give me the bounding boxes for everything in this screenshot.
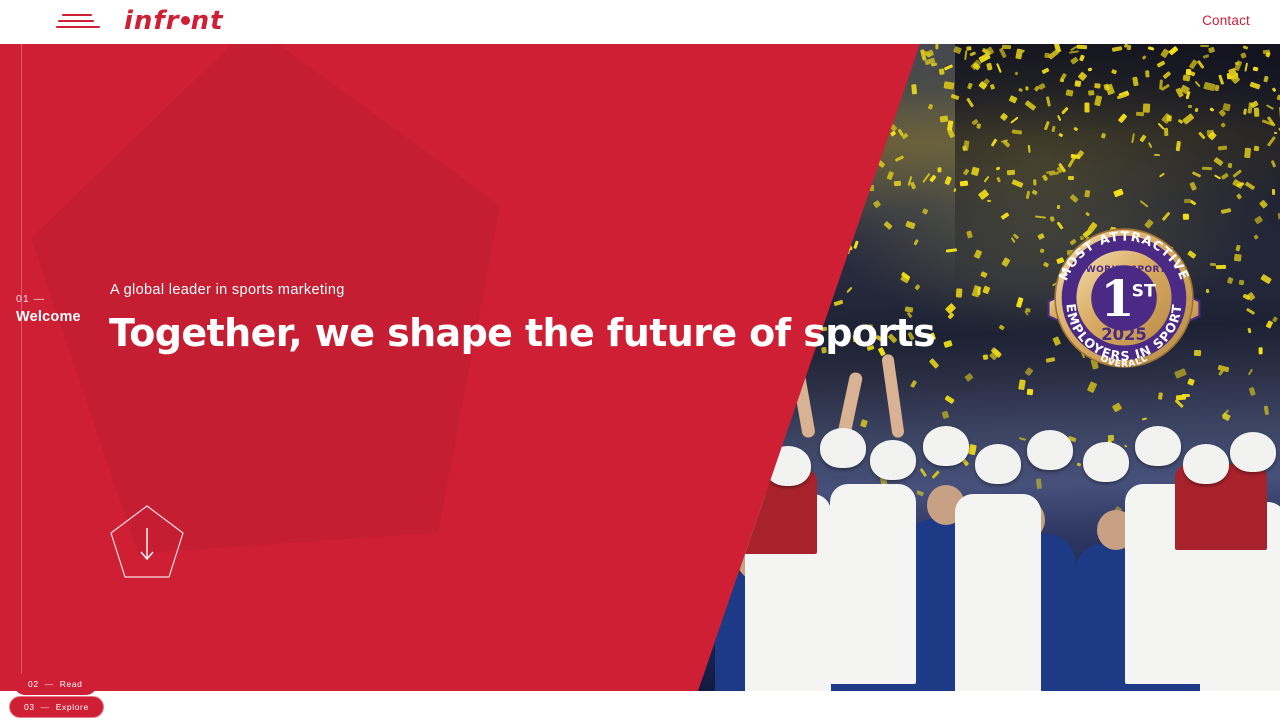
crowd-helmet xyxy=(1135,426,1181,466)
site-header: infrnt Contact xyxy=(0,0,1280,44)
crowd-helmet xyxy=(1027,430,1073,470)
crowd-helmet xyxy=(1230,432,1276,472)
pentagon-watermark-shape xyxy=(17,44,522,560)
logo-text-part-2: nt xyxy=(191,6,224,36)
sidebar-item-explore-label: Explore xyxy=(56,702,89,712)
sidebar-item-read-number: 02 xyxy=(28,679,39,689)
sidebar-item-explore[interactable]: 03 — Explore xyxy=(9,696,104,718)
section-progress-line xyxy=(21,44,22,720)
crowd-helmet xyxy=(765,446,811,486)
crowd-figure xyxy=(955,494,1041,691)
arrow-down-icon xyxy=(107,502,187,582)
sidebar-item-read[interactable]: 02 — Read xyxy=(14,673,97,695)
burger-line-1 xyxy=(62,14,92,16)
page-root: infrnt Contact xyxy=(0,0,1280,720)
badge-rank-suffix: ST xyxy=(1132,281,1156,301)
sidebar-item-explore-number: 03 xyxy=(24,702,35,712)
logo-wordmark: infrnt xyxy=(124,8,224,34)
award-badge-icon: MOST ATTRACTIVE EMPLOYERS IN SPORT OVERA… xyxy=(1042,216,1206,380)
crowd-helmet xyxy=(923,426,969,466)
infront-logo[interactable]: infrnt xyxy=(124,7,224,35)
sidebar-item-read-label: Read xyxy=(60,679,83,689)
burger-line-3 xyxy=(56,26,100,28)
hero-kicker: A global leader in sports marketing xyxy=(110,282,345,298)
award-badge: MOST ATTRACTIVE EMPLOYERS IN SPORT OVERA… xyxy=(1042,216,1206,380)
crowd-helmet xyxy=(715,436,761,476)
page-title: Together, we shape the future of sports xyxy=(109,311,935,357)
badge-year: 2025 xyxy=(1101,325,1147,344)
badge-rank: 1 xyxy=(1100,270,1134,328)
crowd-figure xyxy=(830,484,916,684)
crowd-figures xyxy=(655,424,1280,691)
sidebar-item-read-dash: — xyxy=(45,679,54,689)
crowd-helmet xyxy=(820,428,866,468)
hamburger-menu-icon[interactable] xyxy=(56,14,100,30)
bottom-white-band xyxy=(0,691,1280,720)
logo-text-part-1: infr xyxy=(124,6,180,36)
sidebar-item-explore-dash: — xyxy=(41,702,50,712)
sidebar-item-welcome-label: Welcome xyxy=(16,309,81,325)
burger-line-2 xyxy=(58,20,94,22)
crowd-helmet xyxy=(675,454,721,494)
logo-dot-icon xyxy=(181,16,190,25)
contact-link[interactable]: Contact xyxy=(1202,13,1250,28)
crowd-helmet xyxy=(975,444,1021,484)
sidebar-item-welcome-number: 01 — xyxy=(16,293,81,305)
crowd-helmet xyxy=(1183,444,1229,484)
crowd-helmet xyxy=(870,440,916,480)
crowd-helmet xyxy=(1083,442,1129,482)
scroll-down-button[interactable] xyxy=(107,502,187,582)
sidebar-item-welcome[interactable]: 01 — Welcome xyxy=(16,293,81,326)
hero-section: MOST ATTRACTIVE EMPLOYERS IN SPORT OVERA… xyxy=(0,44,1280,691)
